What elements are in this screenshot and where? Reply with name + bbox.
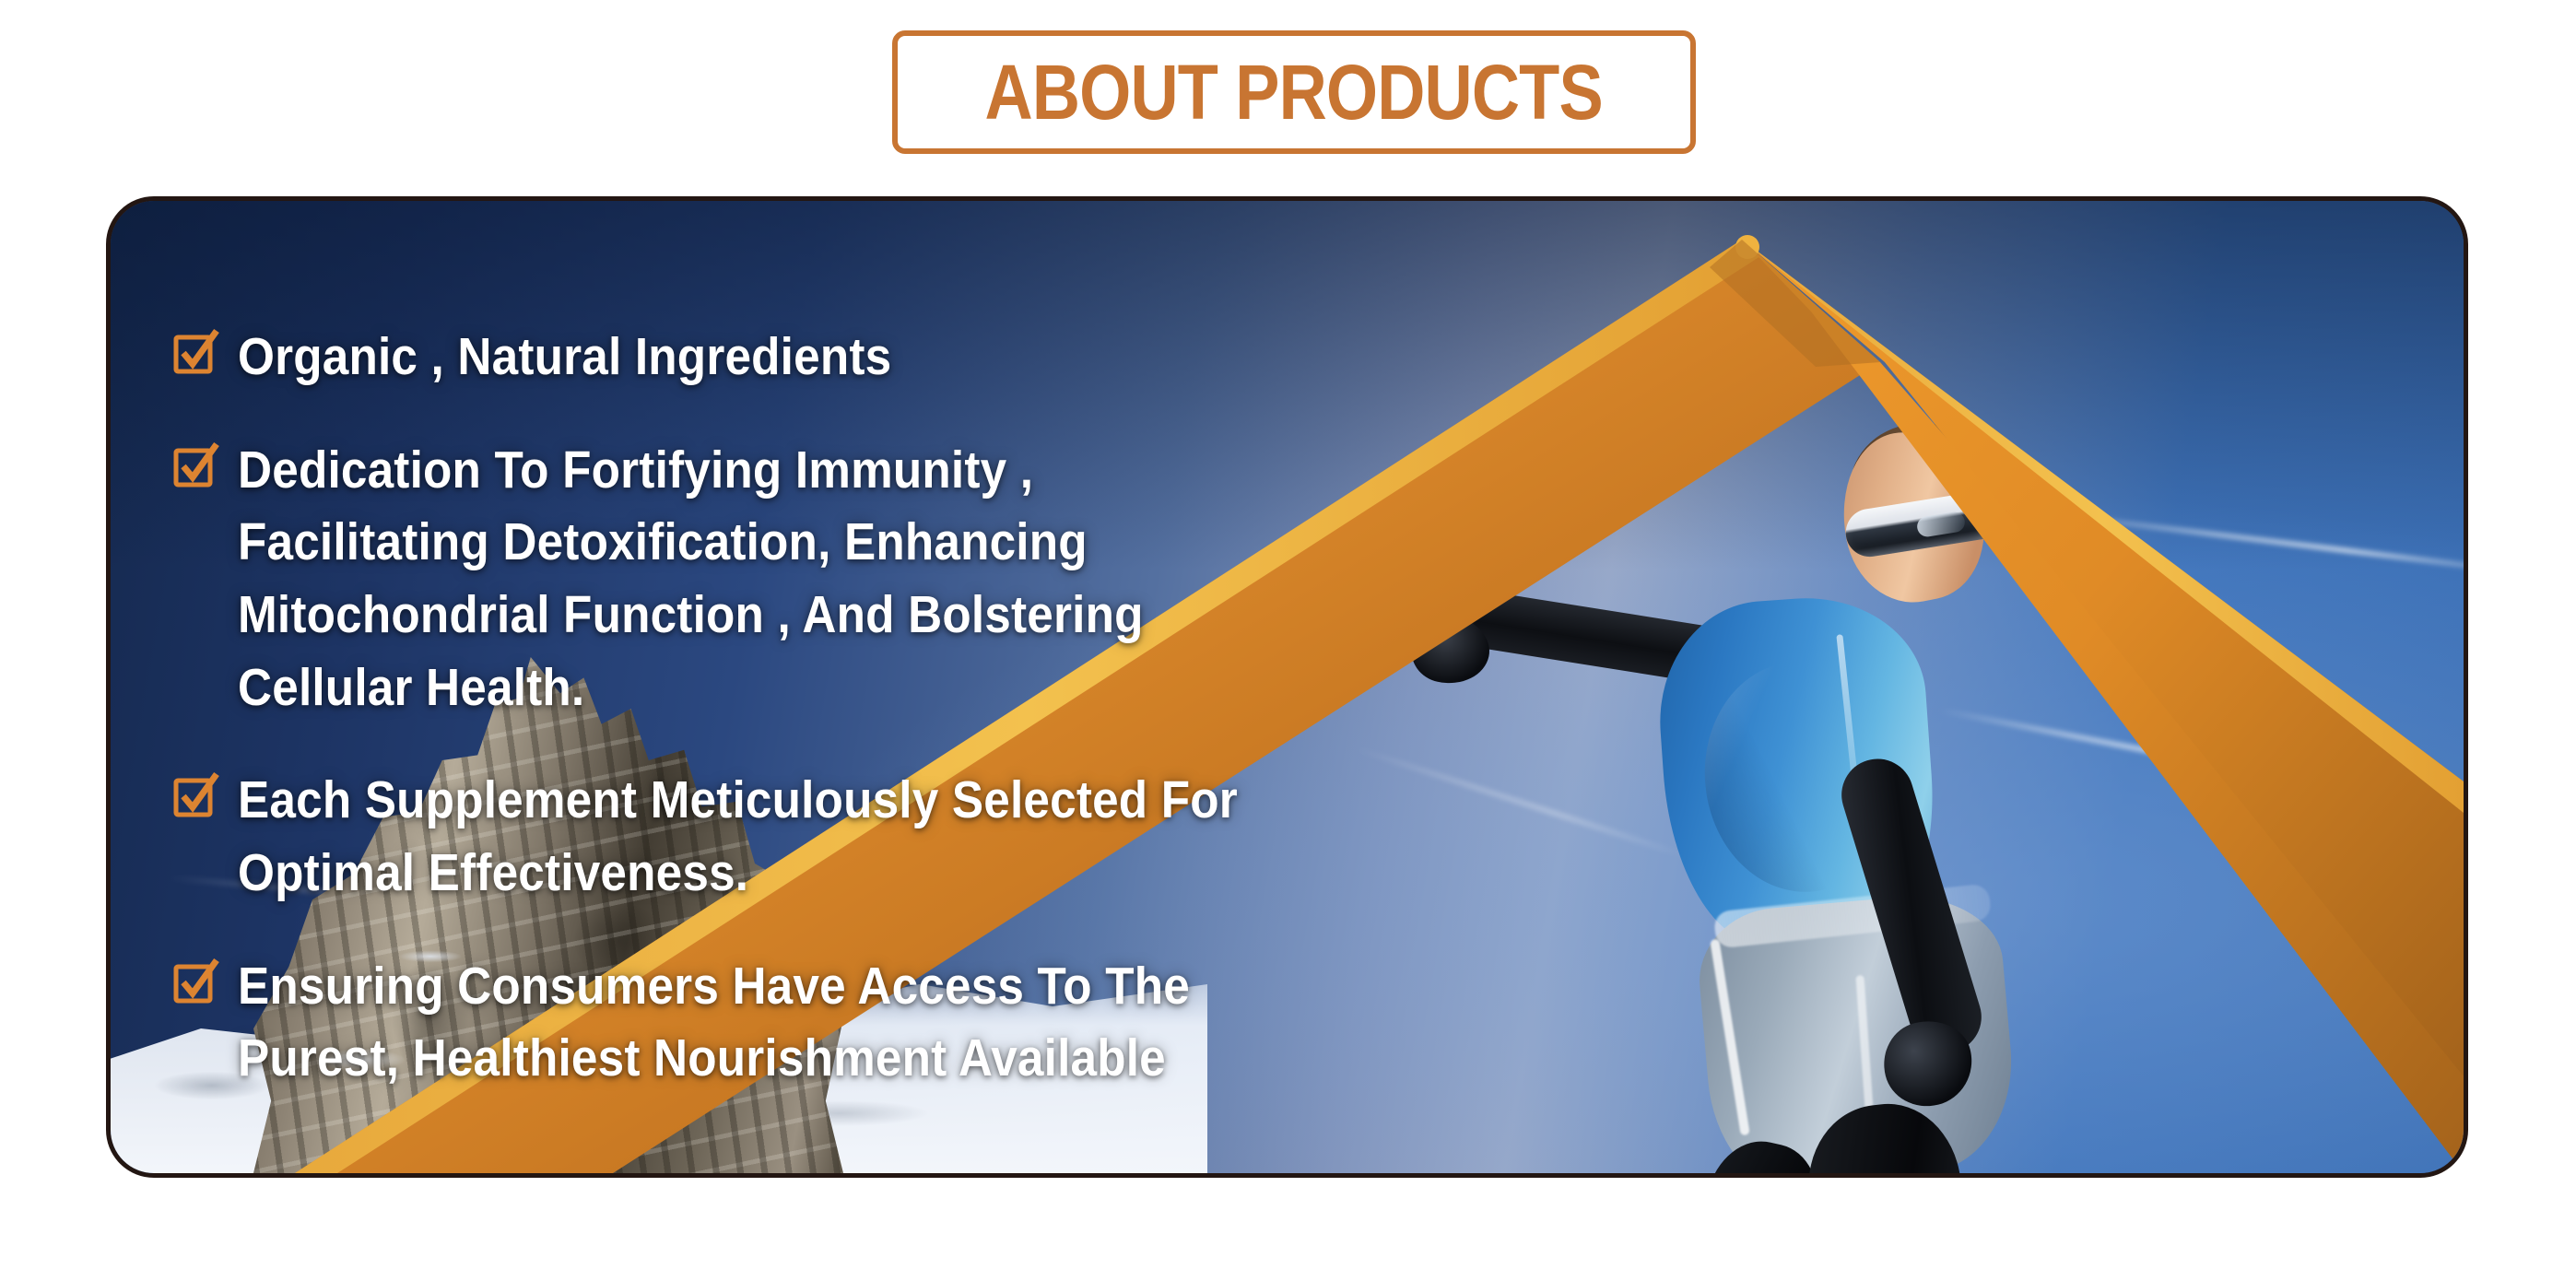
bullet-list: Organic , Natural Ingredients Dedication… bbox=[173, 321, 1464, 1095]
list-item: Each Supplement Meticulously Selected Fo… bbox=[173, 764, 1464, 909]
section-title-box: ABOUT PRODUCTS bbox=[892, 30, 1696, 154]
about-products-card: Organic , Natural Ingredients Dedication… bbox=[106, 196, 2468, 1178]
list-item: Organic , Natural Ingredients bbox=[173, 321, 1464, 394]
bullet-text: Ensuring Consumers Have Access To The Pu… bbox=[238, 950, 1291, 1095]
bullet-text: Organic , Natural Ingredients bbox=[238, 321, 891, 394]
bullet-text: Each Supplement Meticulously Selected Fo… bbox=[238, 764, 1291, 909]
checkbox-checked-icon bbox=[173, 443, 218, 488]
page-title: ABOUT PRODUCTS bbox=[985, 53, 1603, 131]
checkbox-checked-icon bbox=[173, 773, 218, 817]
bullet-text: Dedication To Fortifying Immunity , Faci… bbox=[238, 434, 1291, 724]
checkbox-checked-icon bbox=[173, 959, 218, 1004]
list-item: Ensuring Consumers Have Access To The Pu… bbox=[173, 950, 1464, 1095]
list-item: Dedication To Fortifying Immunity , Faci… bbox=[173, 434, 1464, 724]
checkbox-checked-icon bbox=[173, 330, 218, 374]
